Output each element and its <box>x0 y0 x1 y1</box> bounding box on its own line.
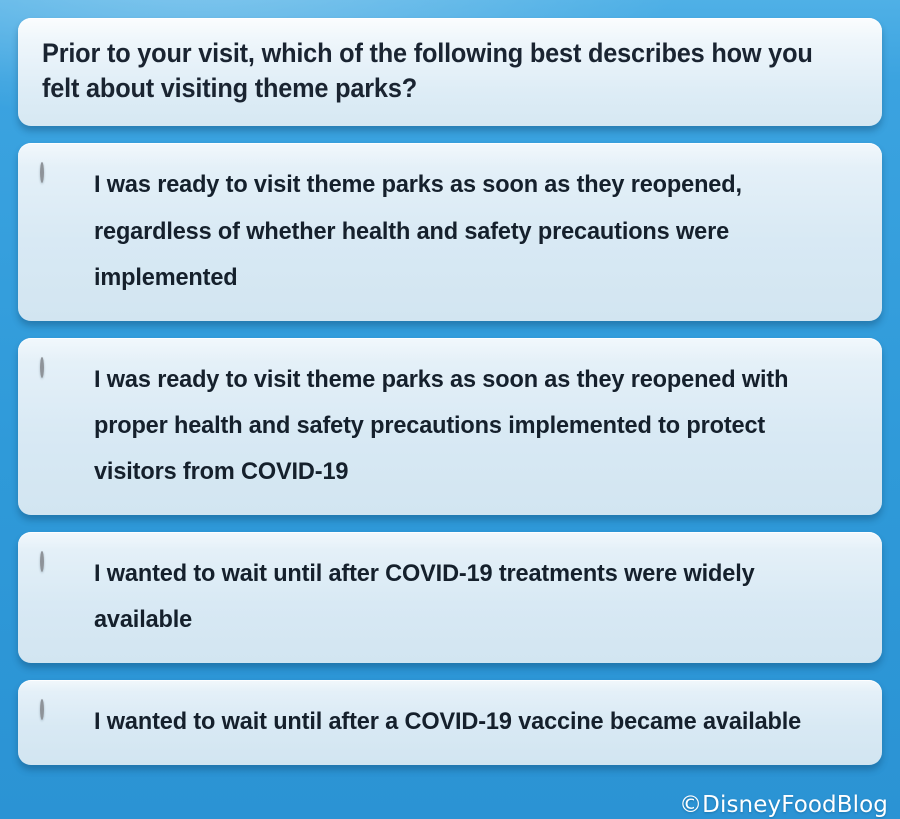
radio-button-icon-1[interactable] <box>40 162 44 183</box>
option-row-2[interactable]: I was ready to visit theme parks as soon… <box>18 338 882 515</box>
radio-button-icon-3[interactable] <box>40 551 44 572</box>
question-card: Prior to your visit, which of the follow… <box>18 18 882 126</box>
radio-wrap-1[interactable] <box>40 161 80 182</box>
radio-wrap-3[interactable] <box>40 550 80 571</box>
option-label-2: I was ready to visit theme parks as soon… <box>94 356 829 495</box>
watermark-label: ©DisneyFoodBlog <box>679 792 888 818</box>
option-label-1: I was ready to visit theme parks as soon… <box>94 161 829 300</box>
page-title: Prior to your visit, which of the follow… <box>42 36 821 106</box>
option-row-1[interactable]: I was ready to visit theme parks as soon… <box>18 143 882 320</box>
option-label-3: I wanted to wait until after COVID-19 tr… <box>94 550 829 643</box>
option-label-4: I wanted to wait until after a COVID-19 … <box>94 698 829 745</box>
option-row-4[interactable]: I wanted to wait until after a COVID-19 … <box>18 680 882 765</box>
radio-wrap-4[interactable] <box>40 698 80 719</box>
radio-wrap-2[interactable] <box>40 356 80 377</box>
radio-button-icon-4[interactable] <box>40 699 44 720</box>
option-row-3[interactable]: I wanted to wait until after COVID-19 tr… <box>18 532 882 663</box>
survey-card-stack: Prior to your visit, which of the follow… <box>18 18 882 782</box>
radio-button-icon-2[interactable] <box>40 357 44 378</box>
survey-screen: Prior to your visit, which of the follow… <box>0 0 900 819</box>
